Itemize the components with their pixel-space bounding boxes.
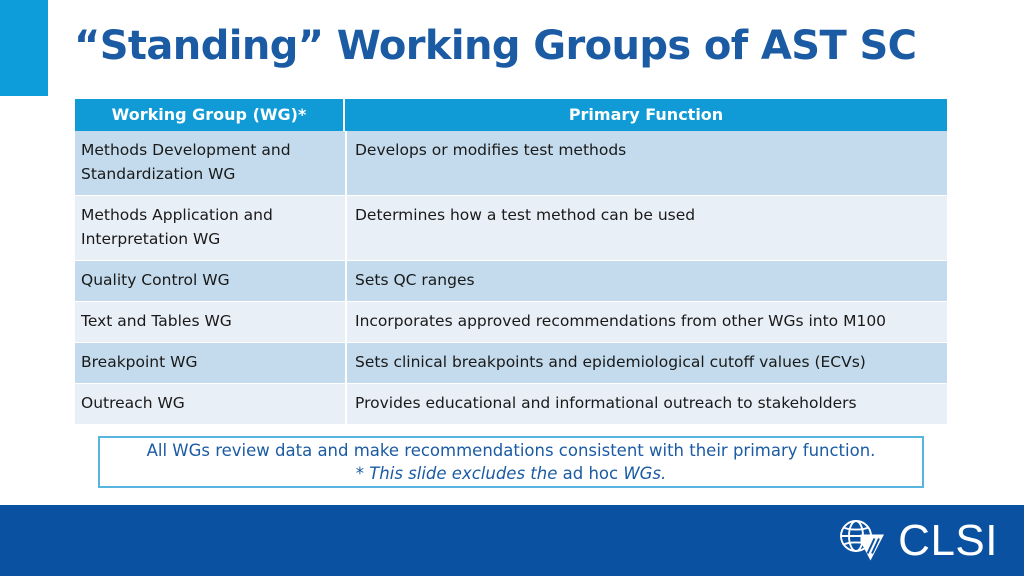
table-body: Methods Development and Standardization … <box>75 131 947 425</box>
clsi-logo: CLSI <box>834 517 998 565</box>
footnote-line-2: * This slide excludes the ad hoc WGs. <box>356 462 667 485</box>
working-groups-table: Working Group (WG)* Primary Function Met… <box>75 99 947 425</box>
page-title: “Standing” Working Groups of AST SC <box>74 22 954 70</box>
cell-working-group: Text and Tables WG <box>75 302 345 343</box>
clsi-globe-swoosh-icon <box>834 517 896 565</box>
footer-bar: CLSI <box>0 505 1024 576</box>
footnote-italic-lead: * This slide excludes the <box>356 464 563 483</box>
footnote-line-1: All WGs review data and make recommendat… <box>147 439 876 462</box>
cell-primary-function: Sets QC ranges <box>345 261 947 302</box>
top-left-accent-bar <box>0 0 48 96</box>
table-row: Methods Development and Standardization … <box>75 131 947 196</box>
cell-primary-function: Provides educational and informational o… <box>345 384 947 425</box>
slide-canvas: “Standing” Working Groups of AST SC Work… <box>0 0 1024 576</box>
table-row: Methods Application and Interpretation W… <box>75 196 947 261</box>
cell-working-group: Methods Development and Standardization … <box>75 131 345 196</box>
clsi-wordmark: CLSI <box>898 519 998 563</box>
cell-working-group: Breakpoint WG <box>75 343 345 384</box>
cell-working-group: Quality Control WG <box>75 261 345 302</box>
cell-working-group: Methods Application and Interpretation W… <box>75 196 345 261</box>
cell-primary-function: Develops or modifies test methods <box>345 131 947 196</box>
table-row: Outreach WG Provides educational and inf… <box>75 384 947 425</box>
footnote-plain-adhoc: ad hoc <box>563 464 624 483</box>
column-header-primary-function: Primary Function <box>345 99 947 131</box>
cell-primary-function: Incorporates approved recommendations fr… <box>345 302 947 343</box>
table-header-row: Working Group (WG)* Primary Function <box>75 99 947 131</box>
cell-primary-function: Sets clinical breakpoints and epidemiolo… <box>345 343 947 384</box>
cell-primary-function: Determines how a test method can be used <box>345 196 947 261</box>
column-header-working-group: Working Group (WG)* <box>75 99 345 131</box>
footnote-callout: All WGs review data and make recommendat… <box>98 436 924 488</box>
table-header: Working Group (WG)* Primary Function <box>75 99 947 131</box>
table-row: Quality Control WG Sets QC ranges <box>75 261 947 302</box>
table-row: Text and Tables WG Incorporates approved… <box>75 302 947 343</box>
table-row: Breakpoint WG Sets clinical breakpoints … <box>75 343 947 384</box>
cell-working-group: Outreach WG <box>75 384 345 425</box>
footnote-italic-tail: WGs. <box>623 464 666 483</box>
